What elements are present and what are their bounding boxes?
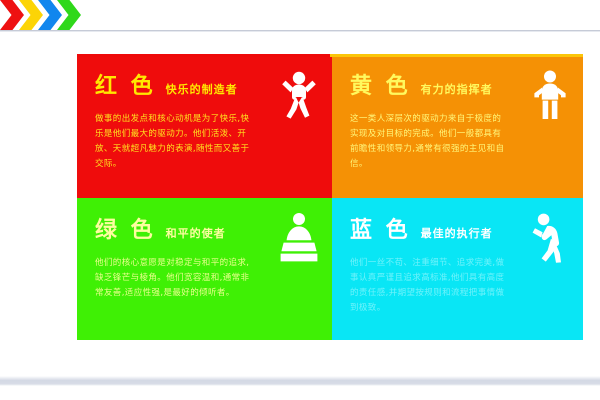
- quadrant-yellow-subtitle: 有力的指挥者: [421, 84, 493, 95]
- quadrant-green-title: 绿 色: [95, 220, 156, 242]
- quadrant-green-subtitle: 和平的使者: [166, 228, 226, 239]
- top-divider: [0, 30, 600, 32]
- footer-divider: [0, 376, 600, 386]
- quadrant-yellow-heading: 黄 色 有力的指挥者: [350, 76, 569, 98]
- quadrant-red-heading: 红 色 快乐的制造者: [95, 76, 318, 98]
- quadrant-green[interactable]: 绿 色 和平的使者 他们的核心意愿是对稳定与和平的追求,缺乏锋芒与棱角。他们宽容…: [77, 198, 332, 340]
- quadrant-blue-heading: 蓝 色 最佳的执行者: [350, 220, 569, 242]
- quadrant-yellow[interactable]: 黄 色 有力的指挥者 这一类人深层次的驱动力来自于极度的实现及对目标的完成。他们…: [332, 54, 583, 198]
- quadrant-red-body: 做事的出发点和核心动机是为了快乐,快乐是他们最大的驱动力。他们活泼、开放、天就超…: [95, 112, 255, 172]
- top-bar: [0, 0, 600, 32]
- footer-area: [0, 386, 600, 400]
- quadrant-blue[interactable]: 蓝 色 最佳的执行者 他们一丝不苟、注重细节、追求完美,做事认真严谨且追求高标准…: [332, 198, 583, 340]
- quadrant-green-body: 他们的核心意愿是对稳定与和平的追求,缺乏锋芒与棱角。他们宽容温和,通常非常友善,…: [95, 256, 255, 301]
- personality-color-grid: 红 色 快乐的制造者 做事的出发点和核心动机是为了快乐,快乐是他们最大的驱动力。…: [77, 54, 583, 340]
- quadrant-blue-subtitle: 最佳的执行者: [421, 228, 493, 239]
- quadrant-yellow-title: 黄 色: [350, 76, 411, 98]
- quadrant-green-heading: 绿 色 和平的使者: [95, 220, 318, 242]
- quadrant-red-title: 红 色: [95, 76, 156, 98]
- accent-line: [77, 54, 583, 57]
- accent-line-right: [330, 54, 583, 57]
- quadrant-red-subtitle: 快乐的制造者: [166, 84, 238, 95]
- quadrant-red[interactable]: 红 色 快乐的制造者 做事的出发点和核心动机是为了快乐,快乐是他们最大的驱动力。…: [77, 54, 332, 198]
- accent-line-left: [77, 54, 330, 57]
- quadrant-blue-body: 他们一丝不苟、注重细节、追求完美,做事认真严谨且追求高标准,他们具有高度的责任感…: [350, 256, 510, 316]
- chevron-red-icon: [0, 0, 24, 30]
- quadrant-yellow-body: 这一类人深层次的驱动力来自于极度的实现及对目标的完成。他们一般都具有前瞻性和领导…: [350, 112, 510, 172]
- quadrant-blue-title: 蓝 色: [350, 220, 411, 242]
- chevron-logo: [0, 0, 76, 30]
